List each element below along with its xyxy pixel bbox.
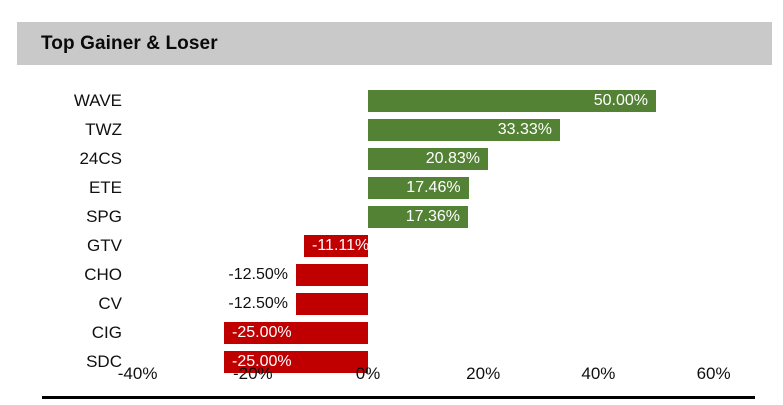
bar-row: GTV-11.11% xyxy=(0,235,783,257)
bar-loss[interactable] xyxy=(296,293,368,315)
bar-value-label: 20.83% xyxy=(368,148,488,170)
bar-value-label: 17.46% xyxy=(368,177,469,199)
x-axis-tick-label: -20% xyxy=(218,364,288,384)
bar-value-label: 33.33% xyxy=(368,119,560,141)
x-axis-tick-label: 0% xyxy=(333,364,403,384)
bar-value-label: -12.50% xyxy=(206,293,288,315)
bar-category-label: GTV xyxy=(0,235,122,257)
bar-chart-plot-area: WAVE50.00%TWZ33.33%24CS20.83%ETE17.46%SP… xyxy=(0,0,783,405)
bar-row: 24CS20.83% xyxy=(0,148,783,170)
bar-value-label: -12.50% xyxy=(206,264,288,286)
bar-row: WAVE50.00% xyxy=(0,90,783,112)
bar-category-label: TWZ xyxy=(0,119,122,141)
bar-category-label: ETE xyxy=(0,177,122,199)
bar-row: TWZ33.33% xyxy=(0,119,783,141)
axis-bottom-rule xyxy=(42,396,755,399)
bar-category-label: CHO xyxy=(0,264,122,286)
bar-value-label: 17.36% xyxy=(368,206,468,228)
bar-row: ETE17.46% xyxy=(0,177,783,199)
x-axis-tick-label: 20% xyxy=(448,364,518,384)
bar-category-label: WAVE xyxy=(0,90,122,112)
bar-row: CV-12.50% xyxy=(0,293,783,315)
x-axis-tick-label: 60% xyxy=(679,364,749,384)
bar-row: CIG-25.00% xyxy=(0,322,783,344)
x-axis-tick-label: -40% xyxy=(103,364,173,384)
bar-row: SPG17.36% xyxy=(0,206,783,228)
bar-value-label: -25.00% xyxy=(224,322,368,344)
bar-row: CHO-12.50% xyxy=(0,264,783,286)
bar-category-label: CV xyxy=(0,293,122,315)
bar-value-label: -11.11% xyxy=(304,235,368,257)
bar-loss[interactable] xyxy=(296,264,368,286)
bar-value-label: 50.00% xyxy=(368,90,656,112)
bar-category-label: 24CS xyxy=(0,148,122,170)
bar-category-label: SPG xyxy=(0,206,122,228)
bar-category-label: CIG xyxy=(0,322,122,344)
x-axis-tick-label: 40% xyxy=(563,364,633,384)
chart-page: Top Gainer & Loser WAVE50.00%TWZ33.33%24… xyxy=(0,0,783,405)
